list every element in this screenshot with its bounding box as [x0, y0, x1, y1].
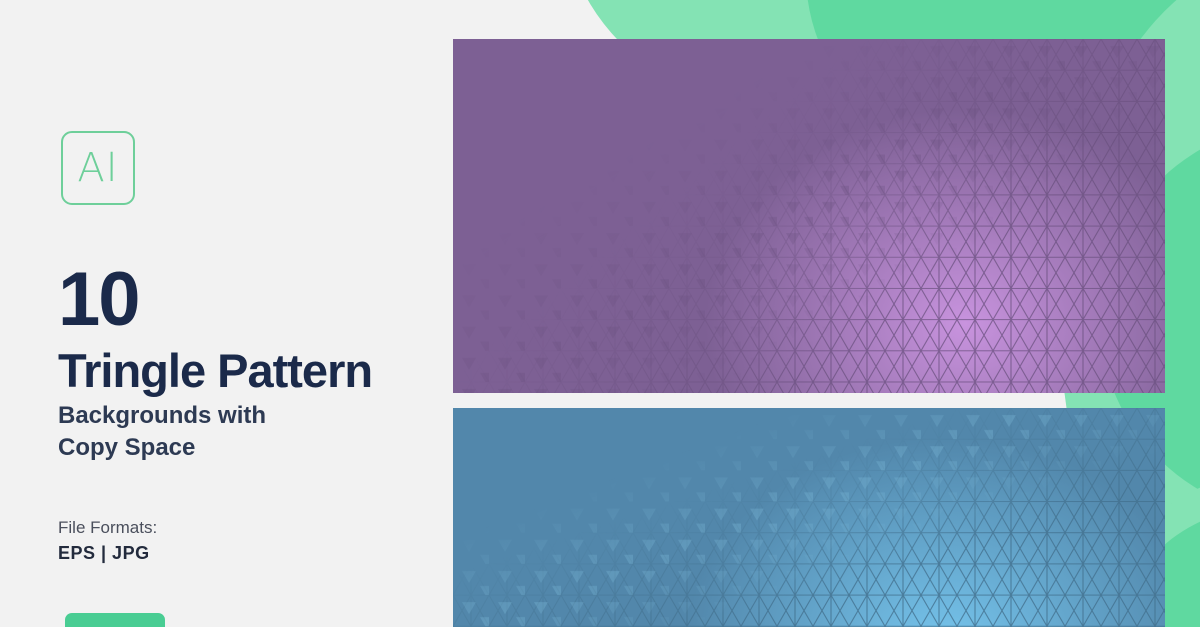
triangle-pattern-blue [453, 408, 1165, 627]
cta-button[interactable] [65, 613, 165, 627]
subtitle-line-1: Backgrounds with [58, 400, 418, 432]
subtitle-line-2: Copy Space [58, 432, 418, 464]
file-formats: File Formats: EPS | JPG [58, 516, 157, 566]
radial-glow-blue [685, 438, 1165, 627]
poster-canvas: AI 10 Tringle Pattern Backgrounds with C… [0, 0, 1200, 627]
triangle-pattern-purple [453, 39, 1165, 393]
preview-card-purple[interactable] [453, 39, 1165, 393]
file-formats-label: File Formats: [58, 516, 157, 540]
radial-glow-purple [705, 109, 1165, 393]
adobe-illustrator-badge-icon: AI [61, 131, 135, 205]
page-title: Tringle Pattern [58, 347, 372, 394]
item-count: 10 [58, 262, 139, 338]
badge-label: AI [77, 148, 118, 188]
preview-card-blue[interactable] [453, 408, 1165, 627]
info-panel: AI 10 Tringle Pattern Backgrounds with C… [0, 0, 453, 627]
file-formats-value: EPS | JPG [58, 540, 157, 566]
page-subtitle: Backgrounds with Copy Space [58, 400, 418, 465]
